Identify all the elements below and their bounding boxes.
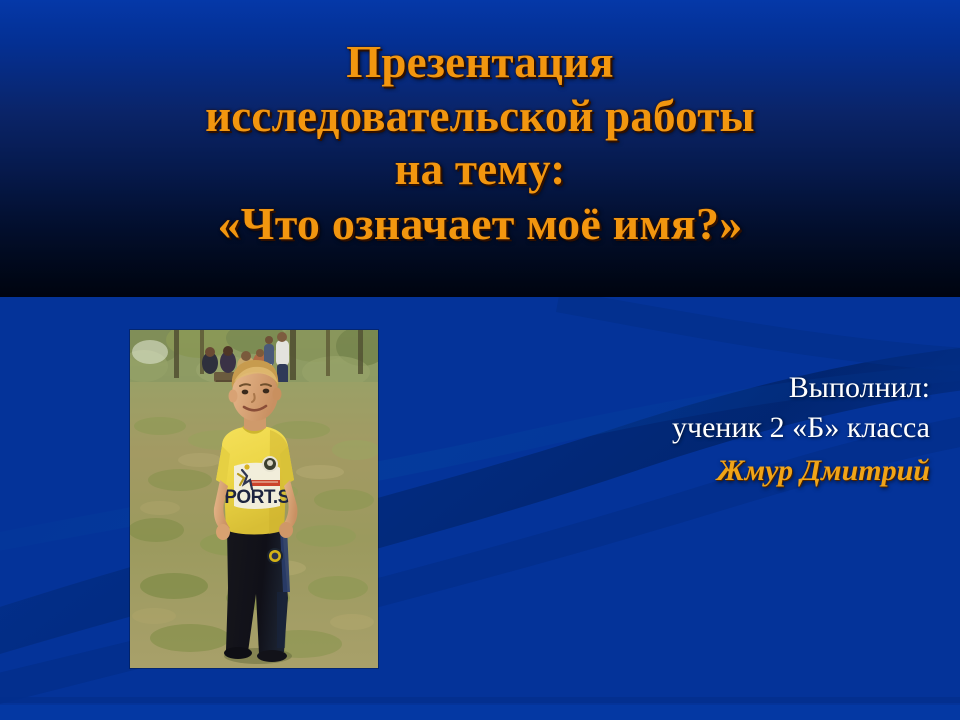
author-name: Жмур Дмитрий — [510, 451, 930, 491]
title-line-3: на тему: — [0, 143, 960, 197]
title-line-4: «Что означает моё имя?» — [0, 197, 960, 252]
title-line-2: исследовательской работы — [0, 90, 960, 144]
byline-class: ученик 2 «Б» класса — [510, 408, 930, 448]
presentation-slide: Презентация исследовательской работы на … — [0, 0, 960, 720]
byline-label: Выполнил: — [510, 368, 930, 408]
author-block: Выполнил: ученик 2 «Б» класса Жмур Дмитр… — [510, 368, 930, 491]
svg-text:PORT.S: PORT.S — [224, 487, 290, 508]
bottom-band-lower — [0, 705, 960, 720]
slide-title: Презентация исследовательской работы на … — [0, 36, 960, 252]
bottom-band-upper — [0, 697, 960, 703]
title-line-1: Презентация — [0, 36, 960, 90]
student-photo: PORT.S — [130, 330, 378, 668]
